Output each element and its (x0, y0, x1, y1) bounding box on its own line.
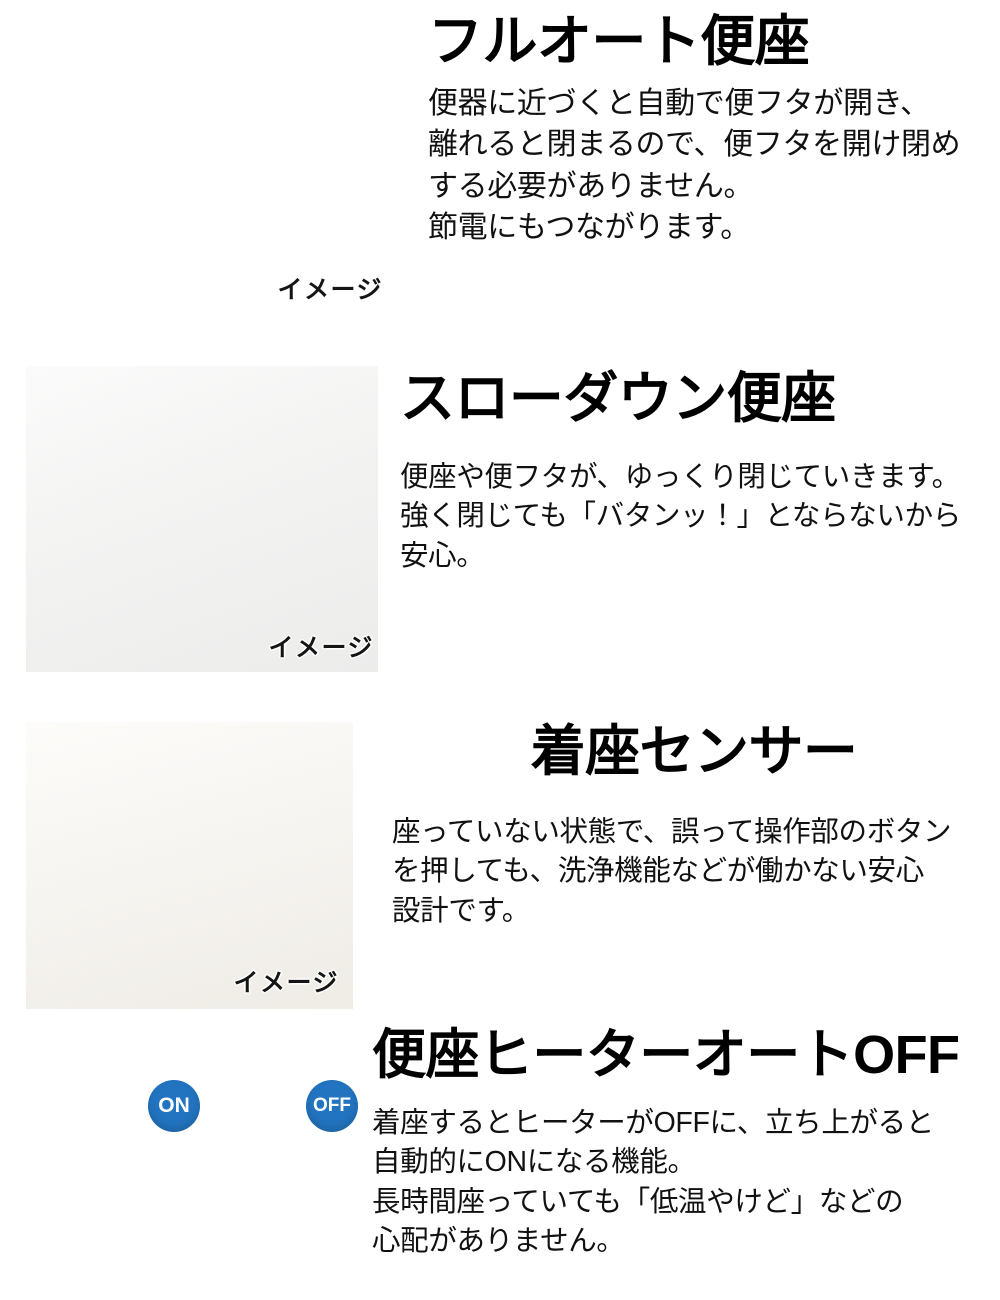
badge-on-label: ON (158, 1094, 190, 1118)
text-block-seat-sensor: 着座センサー 座っていない状態で、誤って操作部のボタン を押しても、洗浄機能など… (392, 724, 996, 931)
figure-full-auto: 開く 閉まる 全自動で イメージ (0, 0, 395, 332)
badge-on: ON (148, 1080, 200, 1132)
section-body-full-auto: 便器に近づくと自動で便フタが開き、 離れると閉まるので、便フタを開け閉め する必… (428, 83, 994, 249)
section-body-seat-sensor: 座っていない状態で、誤って操作部のボタン を押しても、洗浄機能などが働かない安心… (392, 813, 996, 931)
figure-slow-down: イメージ (26, 366, 378, 672)
feature-section-seat-sensor: イメージ 着座センサー 座っていない状態で、誤って操作部のボタン を押しても、洗… (0, 722, 1000, 1012)
image-caption: イメージ (268, 628, 374, 664)
badge-off: OFF (306, 1080, 358, 1132)
figure-heater-auto-off: ON OFF (14, 1058, 384, 1298)
feature-section-full-auto: 開く 閉まる 全自動で イメージ フルオート便座 便器に近づくと自動で便フタが開… (0, 0, 1000, 345)
image-caption: イメージ (233, 963, 339, 999)
section-title-seat-sensor: 着座センサー (392, 724, 996, 779)
badge-off-label: OFF (313, 1095, 351, 1117)
text-block-slow-down: スローダウン便座 便座や便フタが、ゆっくり閉じていきます。 強く閉じても「バタン… (400, 371, 996, 576)
feature-section-heater-auto-off: ON OFF 便座ヒーターオートOFF 着座するとヒーターがOFFに、立ち上がる… (0, 1028, 1000, 1300)
feature-section-slow-down: イメージ スローダウン便座 便座や便フタが、ゆっくり閉じていきます。 強く閉じて… (0, 366, 1000, 676)
image-caption: イメージ (277, 270, 383, 306)
photo-background-slow-down (26, 366, 378, 672)
feature-page: 開く 閉まる 全自動で イメージ フルオート便座 便器に近づくと自動で便フタが開… (0, 0, 1000, 1300)
text-block-full-auto: フルオート便座 便器に近づくと自動で便フタが開き、 離れると閉まるので、便フタを… (428, 14, 994, 249)
text-block-heater-auto-off: 便座ヒーターオートOFF 着座するとヒーターがOFFに、立ち上がると 自動的にO… (372, 1028, 998, 1261)
section-title-slow-down: スローダウン便座 (400, 371, 996, 426)
figure-seat-sensor: イメージ (26, 722, 353, 1009)
section-body-heater-auto-off: 着座するとヒーターがOFFに、立ち上がると 自動的にONになる機能。 長時間座っ… (372, 1104, 998, 1261)
section-body-slow-down: 便座や便フタが、ゆっくり閉じていきます。 強く閉じても「バタンッ！」とならないか… (400, 458, 996, 576)
section-title-full-auto: フルオート便座 (428, 14, 994, 69)
section-title-heater-auto-off: 便座ヒーターオートOFF (372, 1028, 998, 1082)
